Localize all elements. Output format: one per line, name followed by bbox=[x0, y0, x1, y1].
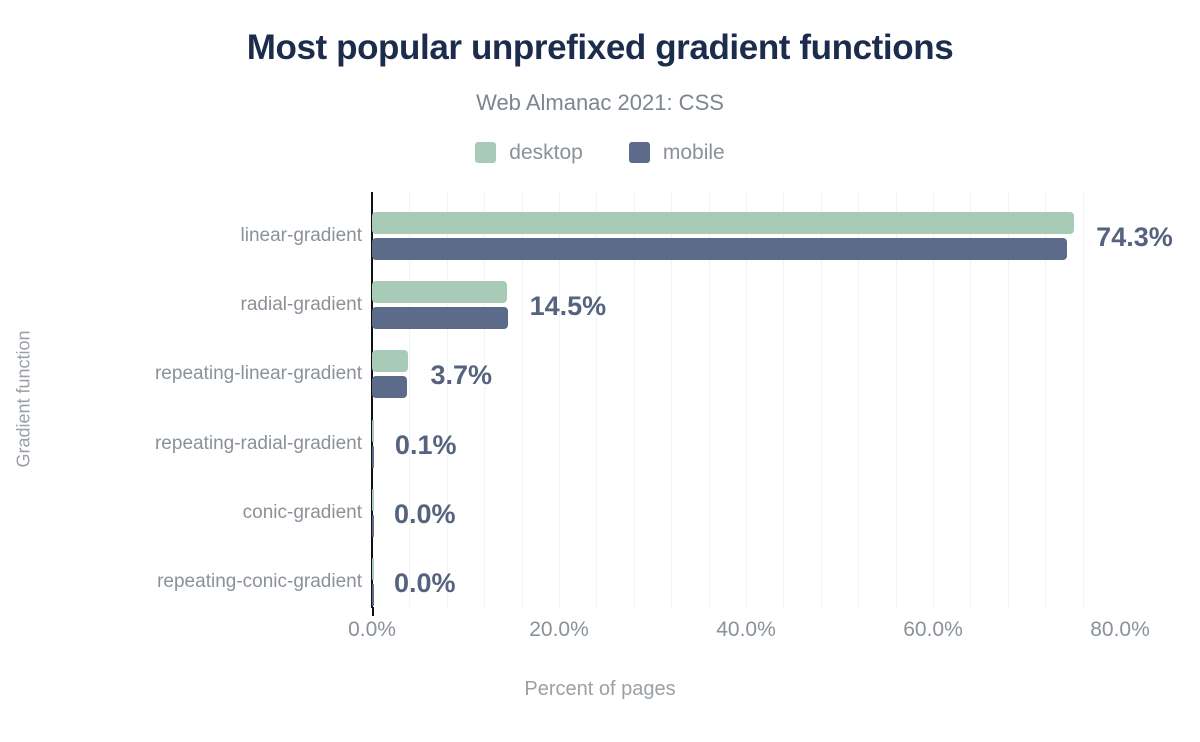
x-axis-title: Percent of pages bbox=[0, 678, 1200, 701]
bar-group-repeating-linear-gradient: 3.7% bbox=[372, 350, 1120, 406]
legend-label-mobile: mobile bbox=[663, 142, 725, 163]
plot-area: 74.3%14.5%3.7%0.1%0.0%0.0% bbox=[372, 192, 1120, 607]
bar-group-radial-gradient: 14.5% bbox=[372, 281, 1120, 337]
bar-value-label-conic-gradient: 0.0% bbox=[394, 501, 456, 528]
x-axis-tick-labels: 0.0%20.0%40.0%60.0%80.0% bbox=[372, 618, 1120, 652]
legend-swatch-desktop bbox=[475, 142, 496, 163]
chart-title: Most popular unprefixed gradient functio… bbox=[0, 28, 1200, 68]
x-tick-label-60: 60.0% bbox=[903, 618, 963, 642]
bar-desktop-conic-gradient[interactable] bbox=[372, 489, 374, 511]
legend-item-desktop[interactable]: desktop bbox=[475, 142, 583, 163]
legend-swatch-mobile bbox=[629, 142, 650, 163]
bar-desktop-repeating-linear-gradient[interactable] bbox=[372, 350, 408, 372]
chart-container: Most popular unprefixed gradient functio… bbox=[0, 0, 1200, 742]
bar-mobile-repeating-conic-gradient[interactable] bbox=[372, 584, 374, 606]
y-tick-label-repeating-radial-gradient: repeating-radial-gradient bbox=[2, 433, 362, 455]
legend-item-mobile[interactable]: mobile bbox=[629, 142, 725, 163]
bar-group-conic-gradient: 0.0% bbox=[372, 489, 1120, 545]
bar-value-label-repeating-conic-gradient: 0.0% bbox=[394, 570, 456, 597]
bar-group-linear-gradient: 74.3% bbox=[372, 212, 1120, 268]
chart-subtitle: Web Almanac 2021: CSS bbox=[0, 90, 1200, 116]
x-tick-label-40: 40.0% bbox=[716, 618, 776, 642]
bar-desktop-linear-gradient[interactable] bbox=[372, 212, 1074, 234]
y-axis-title: Gradient function bbox=[14, 330, 35, 467]
y-tick-label-repeating-conic-gradient: repeating-conic-gradient bbox=[2, 571, 362, 593]
bar-desktop-radial-gradient[interactable] bbox=[372, 281, 507, 303]
y-axis-tick-labels: linear-gradientradial-gradientrepeating-… bbox=[0, 192, 362, 607]
x-tick-label-20: 20.0% bbox=[529, 618, 589, 642]
bar-mobile-radial-gradient[interactable] bbox=[372, 307, 508, 329]
bar-mobile-linear-gradient[interactable] bbox=[372, 238, 1067, 260]
y-tick-label-repeating-linear-gradient: repeating-linear-gradient bbox=[2, 363, 362, 385]
x-tick-label-80: 80.0% bbox=[1090, 618, 1150, 642]
y-tick-label-linear-gradient: linear-gradient bbox=[2, 225, 362, 247]
bar-mobile-repeating-linear-gradient[interactable] bbox=[372, 376, 407, 398]
x-tick-label-0: 0.0% bbox=[348, 618, 396, 642]
y-tick-label-radial-gradient: radial-gradient bbox=[2, 294, 362, 316]
bar-desktop-repeating-conic-gradient[interactable] bbox=[372, 558, 374, 580]
bar-desktop-repeating-radial-gradient[interactable] bbox=[372, 420, 374, 442]
bar-value-label-linear-gradient: 74.3% bbox=[1096, 224, 1173, 251]
y-tick-label-conic-gradient: conic-gradient bbox=[2, 502, 362, 524]
x-tick-mark-0 bbox=[372, 607, 374, 616]
bar-group-repeating-conic-gradient: 0.0% bbox=[372, 558, 1120, 614]
bar-group-repeating-radial-gradient: 0.1% bbox=[372, 420, 1120, 476]
bar-value-label-radial-gradient: 14.5% bbox=[530, 293, 607, 320]
bar-mobile-conic-gradient[interactable] bbox=[372, 515, 374, 537]
chart-legend: desktop mobile bbox=[0, 142, 1200, 163]
bar-value-label-repeating-linear-gradient: 3.7% bbox=[430, 362, 492, 389]
legend-label-desktop: desktop bbox=[509, 142, 583, 163]
bar-value-label-repeating-radial-gradient: 0.1% bbox=[395, 432, 457, 459]
bar-mobile-repeating-radial-gradient[interactable] bbox=[372, 446, 374, 468]
x-axis-tick-marks bbox=[372, 607, 1120, 617]
